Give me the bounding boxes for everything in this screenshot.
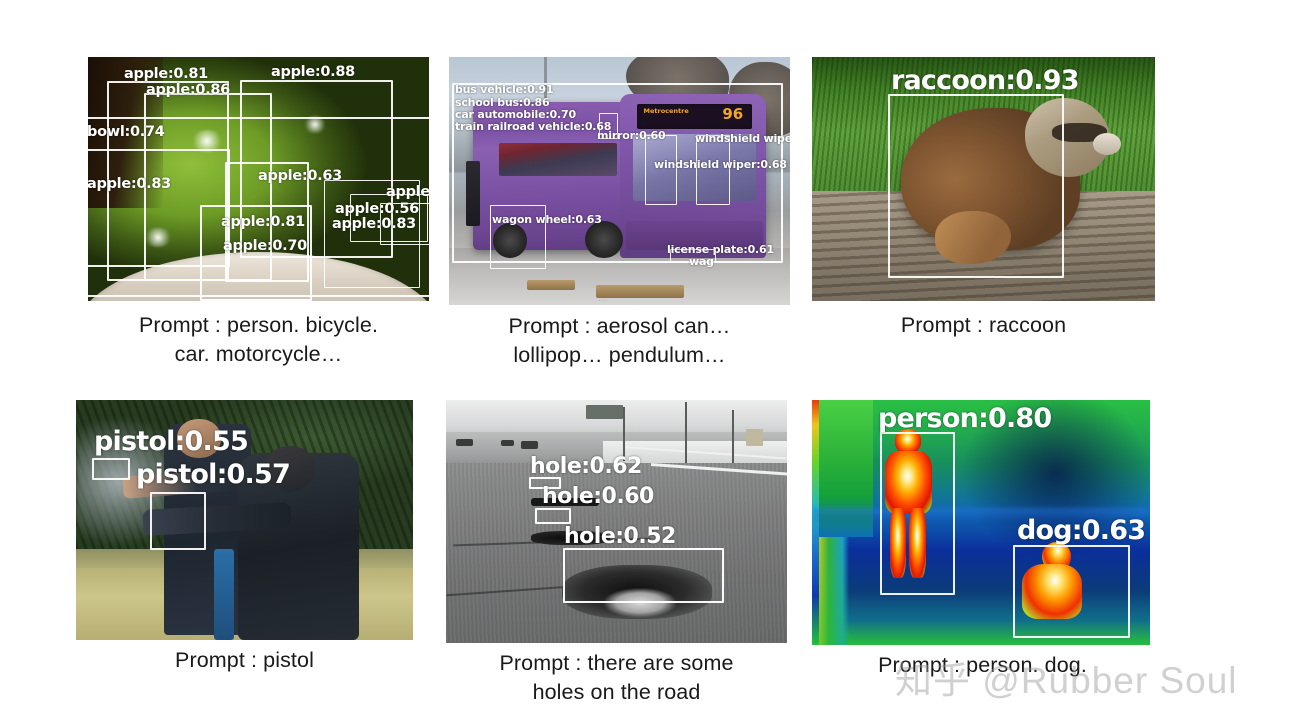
road-scene: [446, 400, 787, 643]
panel-caption-bus: Prompt : aerosol can… lollipop… pendulum…: [425, 312, 814, 370]
detection-box: [1013, 545, 1130, 638]
detection-box: [535, 508, 571, 524]
car: [521, 441, 538, 448]
panel-thermal: person:0.80 dog:0.63 Prompt : person. do…: [812, 400, 1150, 645]
detection-box: [880, 432, 955, 595]
caption-micro-text: · · ·: [599, 298, 607, 304]
panel-caption-pistol: Prompt : pistol: [56, 646, 433, 675]
panel-raccoon: raccoon:0.93 Prompt : raccoon: [812, 57, 1155, 301]
head-front: [265, 446, 316, 492]
equipment-stand: [214, 549, 234, 640]
image-road: hole:0.62 hole:0.60 hole:0.52: [446, 400, 787, 643]
thermal-horizon: [812, 508, 1150, 523]
warning-sign: [746, 429, 763, 446]
image-thermal: person:0.80 dog:0.63: [812, 400, 1150, 645]
panel-bus: Metrocentre 96 · · · bus vehic: [449, 57, 790, 305]
pistol-scene: [76, 400, 413, 640]
car: [456, 439, 473, 446]
detection-box: [92, 458, 130, 480]
image-apples: apple:0.81 apple:0.86 apple:0.88 bowl:0.…: [88, 57, 429, 301]
panel-pistol: pistol:0.55 pistol:0.57 Prompt : pistol: [76, 400, 413, 640]
head-back: [177, 419, 221, 457]
detection-box: [696, 135, 730, 205]
raccoon-snout: [1093, 133, 1120, 155]
detection-box: [490, 205, 546, 269]
panel-apples: apple:0.81 apple:0.86 apple:0.88 bowl:0.…: [88, 57, 429, 301]
pole: [685, 402, 687, 463]
car: [501, 440, 515, 446]
kerb: [527, 280, 575, 290]
detection-box: [200, 205, 312, 301]
panel-caption-raccoon: Prompt : raccoon: [792, 311, 1175, 340]
detection-box: [599, 113, 618, 139]
detection-box: [888, 94, 1064, 278]
pothole-small: [531, 498, 599, 505]
panel-caption-apples: Prompt : person. bicycle. car. motorcycl…: [62, 311, 455, 369]
detection-box: [645, 135, 677, 205]
detection-box: [670, 249, 716, 263]
panel-caption-thermal: Prompt : person. dog.: [792, 651, 1173, 680]
detection-box: [563, 548, 724, 603]
detection-box: [150, 492, 206, 550]
kerb: [596, 285, 685, 297]
highway-sign: [586, 405, 624, 420]
pole: [732, 410, 734, 463]
pole: [623, 407, 625, 460]
panel-road: hole:0.62 hole:0.60 hole:0.52 Prompt : t…: [446, 400, 787, 643]
detection-box: [380, 203, 429, 245]
panel-caption-road: Prompt : there are some holes on the roa…: [424, 649, 809, 707]
image-pistol: pistol:0.55 pistol:0.57: [76, 400, 413, 640]
image-bus: Metrocentre 96 · · · bus vehic: [449, 57, 790, 305]
figure-grid: apple:0.81 apple:0.86 apple:0.88 bowl:0.…: [0, 0, 1290, 721]
pothole-medium: [531, 531, 609, 544]
detection-box: [529, 477, 561, 489]
image-raccoon: raccoon:0.93: [812, 57, 1155, 301]
